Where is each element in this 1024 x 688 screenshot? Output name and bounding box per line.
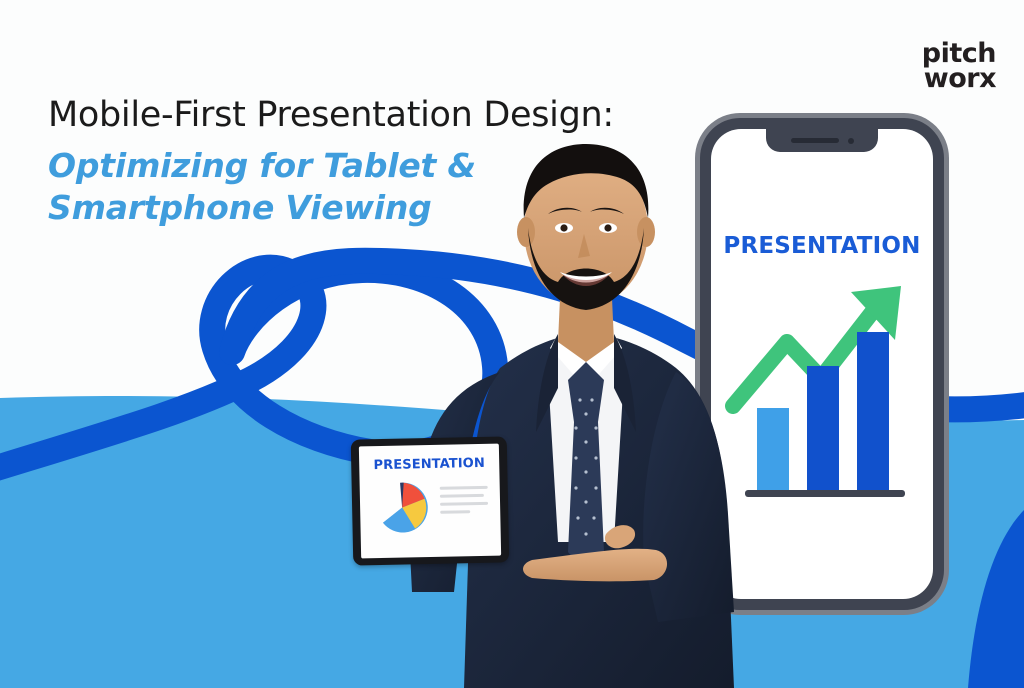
bar-3 xyxy=(857,332,889,490)
text-line xyxy=(440,502,488,506)
logo-line-2: worx xyxy=(922,67,996,92)
front-camera-dot-icon xyxy=(848,138,854,144)
chart-baseline xyxy=(745,490,905,497)
text-line xyxy=(440,510,470,514)
text-line xyxy=(440,486,488,490)
pupil-right xyxy=(604,224,611,231)
presenter-figure xyxy=(408,122,768,688)
tablet-slide-title: PRESENTATION xyxy=(359,456,499,474)
smartphone-notch xyxy=(766,129,878,152)
banner-canvas: pitch worx Mobile-First Presentation Des… xyxy=(0,0,1024,688)
tablet-text-lines xyxy=(440,486,489,519)
brand-logo: pitch worx xyxy=(922,42,996,92)
ear-right xyxy=(637,217,655,247)
text-line xyxy=(440,494,484,498)
ear-left xyxy=(517,217,535,247)
tablet-mockup: PRESENTATION xyxy=(351,436,510,565)
tablet-pie-chart xyxy=(376,481,429,534)
necktie xyxy=(568,362,604,574)
tablet-screen: PRESENTATION xyxy=(359,444,501,559)
bar-2 xyxy=(807,366,839,490)
speaker-bar-icon xyxy=(791,138,839,143)
pupil-left xyxy=(560,224,567,231)
